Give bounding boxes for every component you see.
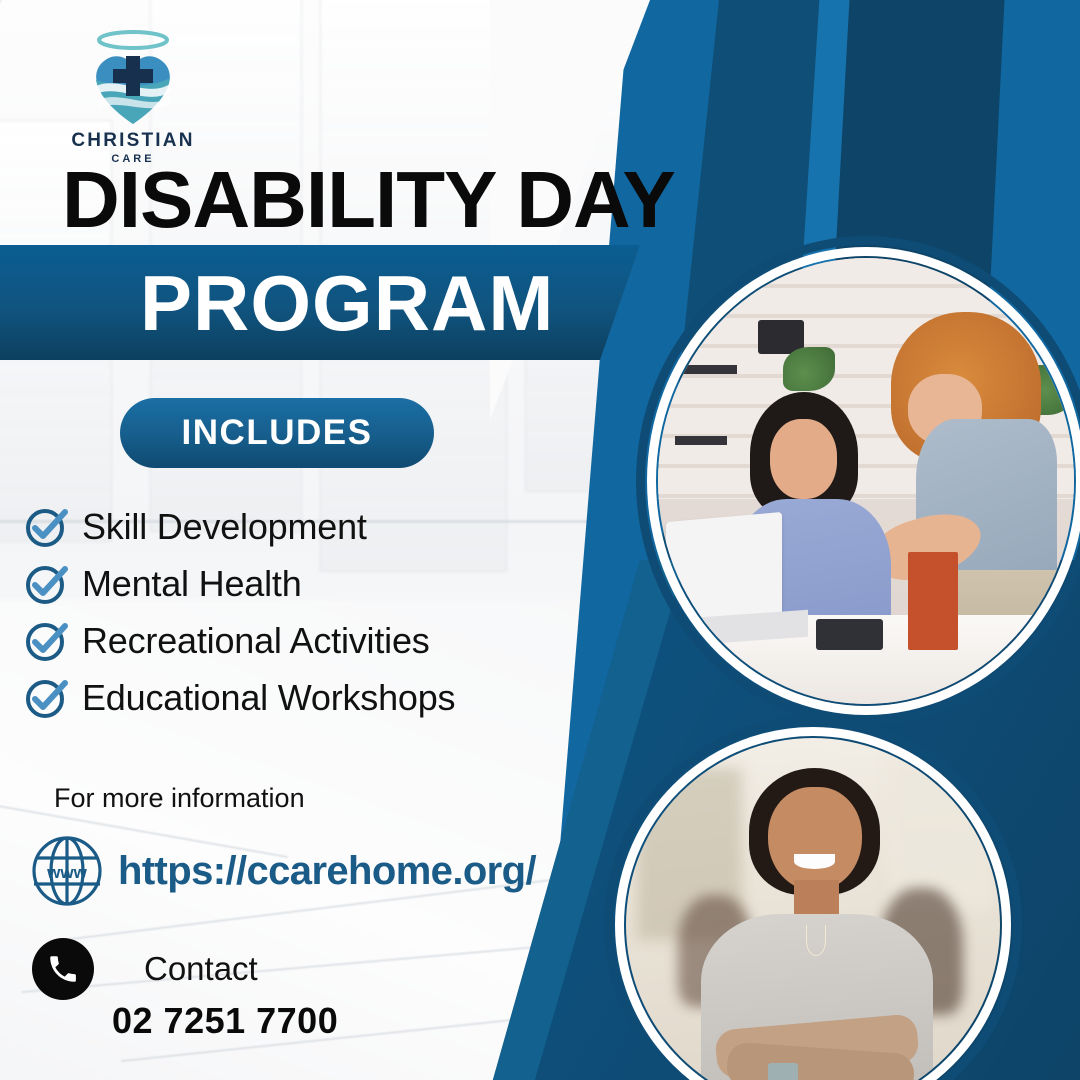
phone-handset-glyph xyxy=(46,952,80,986)
poster: CHRISTIAN CARE DISABILITY DAY PROGRAM IN… xyxy=(0,0,1080,1080)
list-item: Recreational Activities xyxy=(22,612,542,669)
list-item-label: Mental Health xyxy=(82,563,302,605)
contact-row: Contact xyxy=(32,938,258,1000)
check-circle-icon xyxy=(22,674,70,722)
program-banner-text: PROGRAM xyxy=(140,264,554,342)
list-item: Educational Workshops xyxy=(22,669,542,726)
more-info-label: For more information xyxy=(54,783,305,814)
phone-icon xyxy=(32,938,94,1000)
list-item: Skill Development xyxy=(22,498,542,555)
heart-cross-halo-logo-icon xyxy=(74,28,192,128)
includes-list: Skill Development Mental Health Recreati… xyxy=(22,498,542,726)
includes-badge: INCLUDES xyxy=(120,398,434,468)
check-circle-icon xyxy=(22,503,70,551)
svg-text:www: www xyxy=(46,863,87,882)
photo-two-women-laptop xyxy=(636,236,1080,726)
includes-badge-label: INCLUDES xyxy=(182,413,373,453)
program-banner: PROGRAM xyxy=(0,245,640,360)
logo-name: CHRISTIAN xyxy=(58,130,208,152)
globe-www-icon: www xyxy=(28,832,106,910)
check-circle-icon xyxy=(22,560,70,608)
page-title: DISABILITY DAY xyxy=(62,160,762,240)
contact-label: Contact xyxy=(144,950,258,988)
check-circle-icon xyxy=(22,617,70,665)
brand-logo: CHRISTIAN CARE xyxy=(58,28,208,165)
list-item-label: Recreational Activities xyxy=(82,620,430,662)
contact-phone-number[interactable]: 02 7251 7700 xyxy=(112,1000,338,1042)
photo-smiling-woman-arms-crossed xyxy=(604,716,1074,1080)
list-item-label: Educational Workshops xyxy=(82,677,455,719)
list-item-label: Skill Development xyxy=(82,506,367,548)
website-url[interactable]: https://ccarehome.org/ xyxy=(118,849,536,894)
website-row[interactable]: www https://ccarehome.org/ xyxy=(28,832,536,910)
list-item: Mental Health xyxy=(22,555,542,612)
